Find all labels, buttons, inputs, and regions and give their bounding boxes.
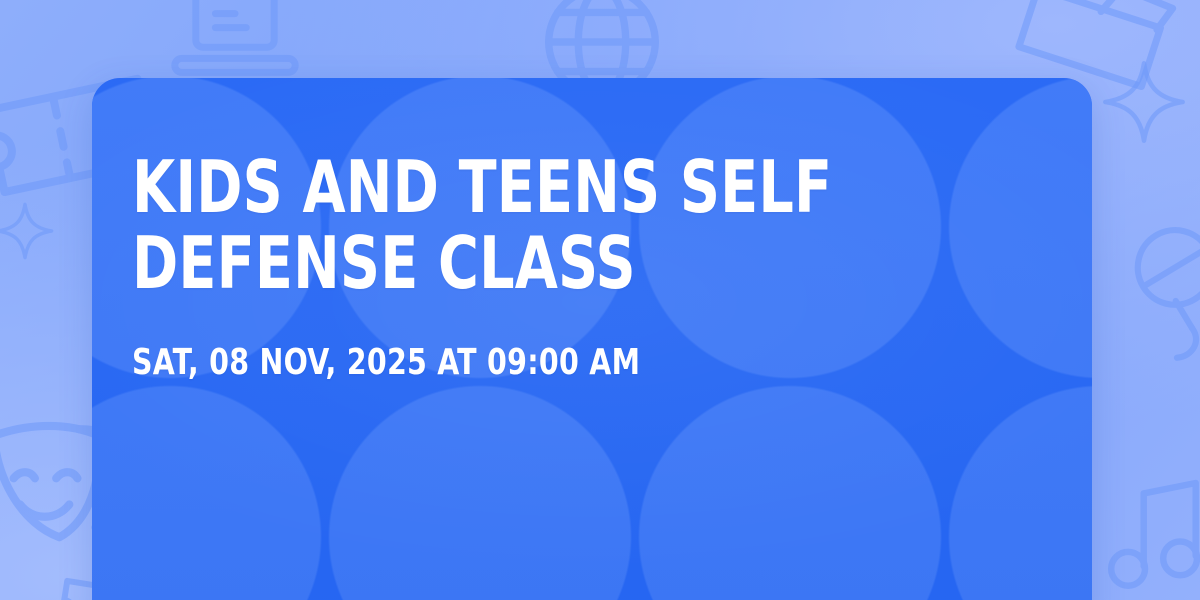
sparkle-icon [1098,56,1190,148]
sparkle-small-icon [0,196,60,266]
event-date-time: Sat, 08 Nov, 2025 at 09:00 AM [132,343,935,383]
event-card: Kids and Teens Self Defense Class Sat, 0… [92,78,1092,600]
event-title: Kids and Teens Self Defense Class [132,150,916,301]
microphone-icon [1099,207,1200,370]
music-note-icon [1098,470,1200,600]
event-banner: Kids and Teens Self Defense Class Sat, 0… [0,0,1200,600]
event-card-content: Kids and Teens Self Defense Class Sat, 0… [132,150,1044,383]
